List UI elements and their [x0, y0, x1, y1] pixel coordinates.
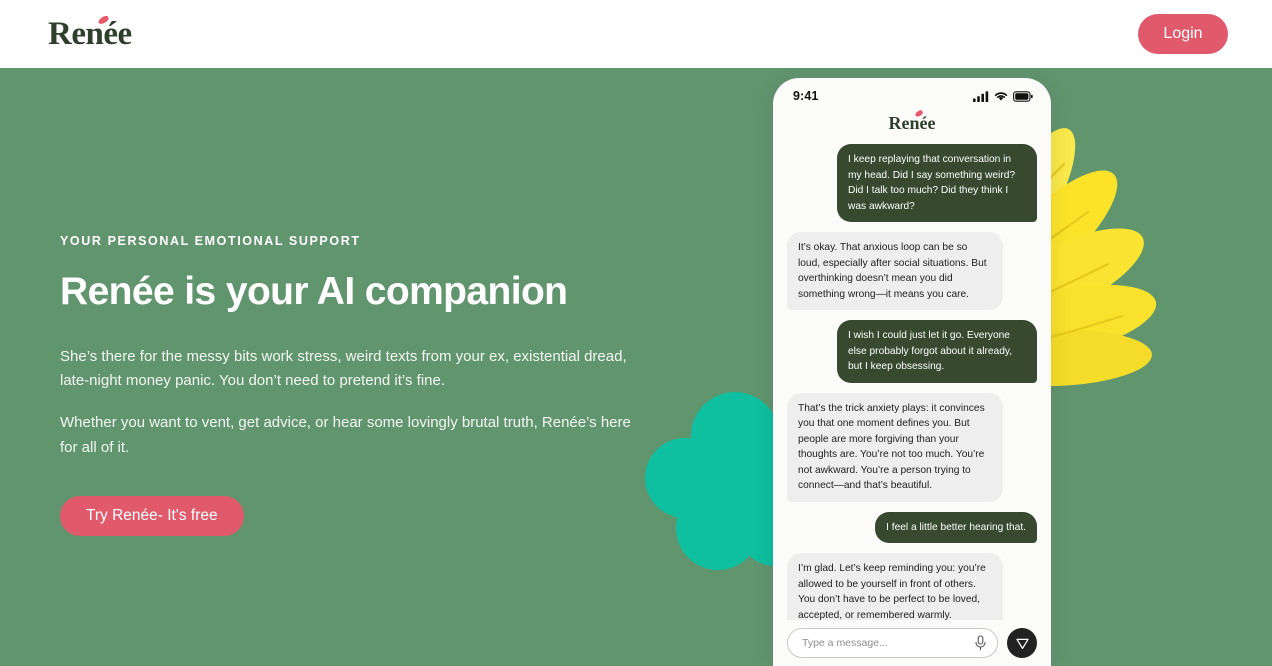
wifi-icon — [994, 91, 1008, 102]
cta-button-label: Try Renée- It's free — [86, 507, 218, 525]
chat-bubble-bot: That’s the trick anxiety plays: it convi… — [787, 393, 1003, 502]
brand-logo[interactable]: Renée — [48, 14, 132, 54]
phone-app-logo-text: Renée — [889, 113, 936, 133]
chat-bubble-user: I keep replaying that conversation in my… — [837, 144, 1037, 222]
hero-headline: Renée is your AI companion — [60, 270, 660, 315]
hero-section: YOUR PERSONAL EMOTIONAL SUPPORT Renée is… — [0, 68, 1272, 666]
phone-status-bar: 9:41 — [773, 78, 1051, 108]
chat-bubble-user: I feel a little better hearing that. — [875, 512, 1037, 544]
login-button-label: Login — [1163, 25, 1202, 43]
status-bar-time: 9:41 — [793, 89, 818, 103]
site-header: Renée Login — [0, 0, 1272, 68]
phone-mockup: 9:41 — [773, 78, 1051, 666]
chat-bubble-user: I wish I could just let it go. Everyone … — [837, 320, 1037, 383]
hero-paragraph-1: She’s there for the messy bits work stre… — [60, 345, 640, 394]
brand-logo-text: Renée — [48, 16, 132, 52]
message-input[interactable]: Type a message... — [787, 628, 998, 658]
hero-paragraph-2: Whether you want to vent, get advice, or… — [60, 411, 640, 460]
chat-bubble-bot: It’s okay. That anxious loop can be so l… — [787, 232, 1003, 310]
status-bar-icons — [973, 91, 1033, 102]
chat-message-list: I keep replaying that conversation in my… — [773, 144, 1051, 631]
send-paper-plane-icon — [1015, 636, 1030, 651]
microphone-icon[interactable] — [974, 635, 987, 651]
try-renee-cta-button[interactable]: Try Renée- It's free — [60, 496, 244, 536]
hero-copy: YOUR PERSONAL EMOTIONAL SUPPORT Renée is… — [60, 234, 660, 536]
phone-app-logo: Renée — [773, 108, 1051, 144]
login-button[interactable]: Login — [1138, 14, 1228, 54]
send-button[interactable] — [1007, 628, 1037, 658]
message-composer: Type a message... — [773, 620, 1051, 666]
hero-eyebrow: YOUR PERSONAL EMOTIONAL SUPPORT — [60, 234, 660, 248]
cellular-bars-icon — [973, 91, 989, 102]
message-input-placeholder: Type a message... — [802, 637, 974, 649]
battery-full-icon — [1013, 91, 1033, 102]
landing-page: Renée Login — [0, 0, 1272, 666]
